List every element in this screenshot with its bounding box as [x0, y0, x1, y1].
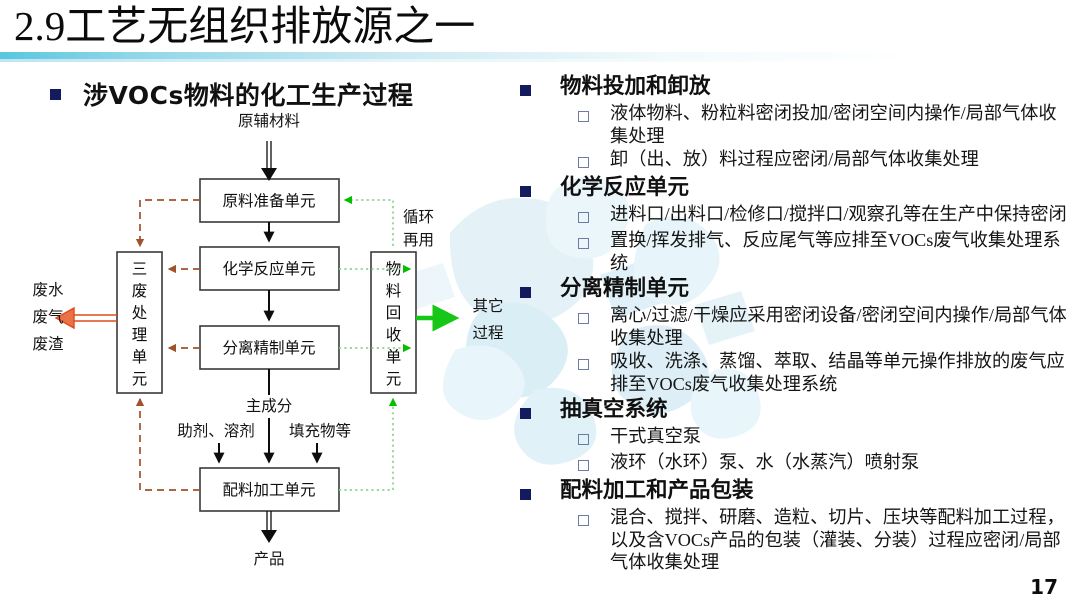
hollow-square-bullet-icon [578, 203, 610, 228]
page-title: 2.9工艺无组织排放源之一 [14, 2, 475, 50]
bullet-item-4-0: 混合、搅拌、研磨、造粒、切片、压块等配料加工过程，以及含VOCs产品的包装（灌装… [578, 506, 1080, 574]
hollow-square-bullet-icon [578, 506, 610, 531]
label-product: 产品 [253, 550, 284, 568]
section-title: 物料投加和卸放 [560, 73, 711, 100]
node-blending-label: 配料加工单元 [222, 481, 315, 499]
filled-square-bullet-icon [520, 396, 560, 424]
bullet-item-1-1: 置换/挥发排气、反应尾气等应排至VOCs废气收集处理系统 [578, 229, 1080, 274]
hollow-square-bullet-icon [578, 304, 610, 329]
bullet-item-3-0: 干式真空泵 [578, 425, 1080, 450]
title-divider [0, 52, 1080, 59]
section-item-text: 液体物料、粉粒料密闭投加/密闭空间内操作/局部气体收集处理 [610, 102, 1072, 147]
right-content-column: 物料投加和卸放 液体物料、粉粒料密闭投加/密闭空间内操作/局部气体收集处理 卸（… [520, 72, 1080, 574]
title-divider-secondary [0, 59, 1080, 62]
section-item-text: 进料口/出料口/检修口/搅拌口/观察孔等在生产中保持密闭 [610, 203, 1067, 226]
section-item-text: 混合、搅拌、研磨、造粒、切片、压块等配料加工过程，以及含VOCs产品的包装（灌装… [610, 506, 1072, 574]
filled-square-bullet-icon [520, 174, 560, 202]
section-title: 配料加工和产品包装 [560, 477, 754, 504]
section-item-text: 干式真空泵 [610, 425, 701, 448]
hollow-square-bullet-icon [578, 229, 610, 254]
section-title: 抽真空系统 [560, 396, 668, 423]
bullet-item-3-1: 液环（水环）泵、水（水蒸汽）喷射泵 [578, 451, 1080, 476]
filled-square-bullet-icon [520, 275, 560, 303]
label-additives: 助剂、溶剂 [177, 422, 255, 440]
bullet-item-0-1: 卸（出、放）料过程应密闭/局部气体收集处理 [578, 148, 1080, 173]
hollow-square-bullet-icon [578, 102, 610, 127]
section-title: 分离精制单元 [560, 275, 689, 302]
label-fillers: 填充物等 [289, 422, 351, 440]
label-other-process: 其它过程 [472, 297, 503, 342]
bullet-section-0: 物料投加和卸放 [520, 73, 1080, 101]
label-main-component: 主成分 [246, 397, 293, 415]
bullet-section-4: 配料加工和产品包装 [520, 477, 1080, 505]
bullet-item-2-0: 离心/过滤/干燥应采用密闭设备/密闭空间内操作/局部气体收集处理 [578, 304, 1080, 349]
section-item-text: 吸收、洗涤、蒸馏、萃取、结晶等单元操作排放的废气应排至VOCs废气收集处理系统 [610, 350, 1072, 395]
section-item-text: 液环（水环）泵、水（水蒸汽）喷射泵 [610, 451, 919, 474]
hollow-square-bullet-icon [578, 451, 610, 476]
label-raw-input: 原辅材料 [238, 112, 300, 130]
label-recycle: 循环再用 [403, 208, 434, 249]
hollow-square-bullet-icon [578, 350, 610, 375]
section-title: 化学反应单元 [560, 174, 689, 201]
bullet-section-1: 化学反应单元 [520, 174, 1080, 202]
node-separation-label: 分离精制单元 [222, 339, 315, 357]
label-waste-output: 废水废气废渣 [32, 281, 64, 353]
section-item-text: 置换/挥发排气、反应尾气等应排至VOCs废气收集处理系统 [610, 229, 1072, 274]
filled-square-bullet-icon [520, 477, 560, 505]
section-item-text: 卸（出、放）料过程应密闭/局部气体收集处理 [610, 148, 979, 171]
bullet-item-2-1: 吸收、洗涤、蒸馏、萃取、结晶等单元操作排放的废气应排至VOCs废气收集处理系统 [578, 350, 1080, 395]
process-flow-diagram: 原料准备单元 化学反应单元 分离精制单元 配料加工单元 三废处理单元 物料回收单… [0, 100, 520, 580]
bullet-item-0-0: 液体物料、粉粒料密闭投加/密闭空间内操作/局部气体收集处理 [578, 102, 1080, 147]
filled-square-bullet-icon [520, 73, 560, 101]
bullet-section-2: 分离精制单元 [520, 275, 1080, 303]
bullet-item-1-0: 进料口/出料口/检修口/搅拌口/观察孔等在生产中保持密闭 [578, 203, 1080, 228]
filled-square-bullet-icon [50, 89, 61, 100]
slide-root: 2.9工艺无组织排放源之一 涉VOCs物料的化工生产过程 [0, 0, 1080, 607]
section-item-text: 离心/过滤/干燥应采用密闭设备/密闭空间内操作/局部气体收集处理 [610, 304, 1072, 349]
page-number: 17 [1030, 575, 1058, 599]
node-prep-label: 原料准备单元 [222, 192, 315, 210]
waste-output-arrow [56, 308, 117, 328]
bullet-section-3: 抽真空系统 [520, 396, 1080, 424]
hollow-square-bullet-icon [578, 148, 610, 173]
hollow-square-bullet-icon [578, 425, 610, 450]
node-reaction-label: 化学反应单元 [222, 259, 315, 278]
